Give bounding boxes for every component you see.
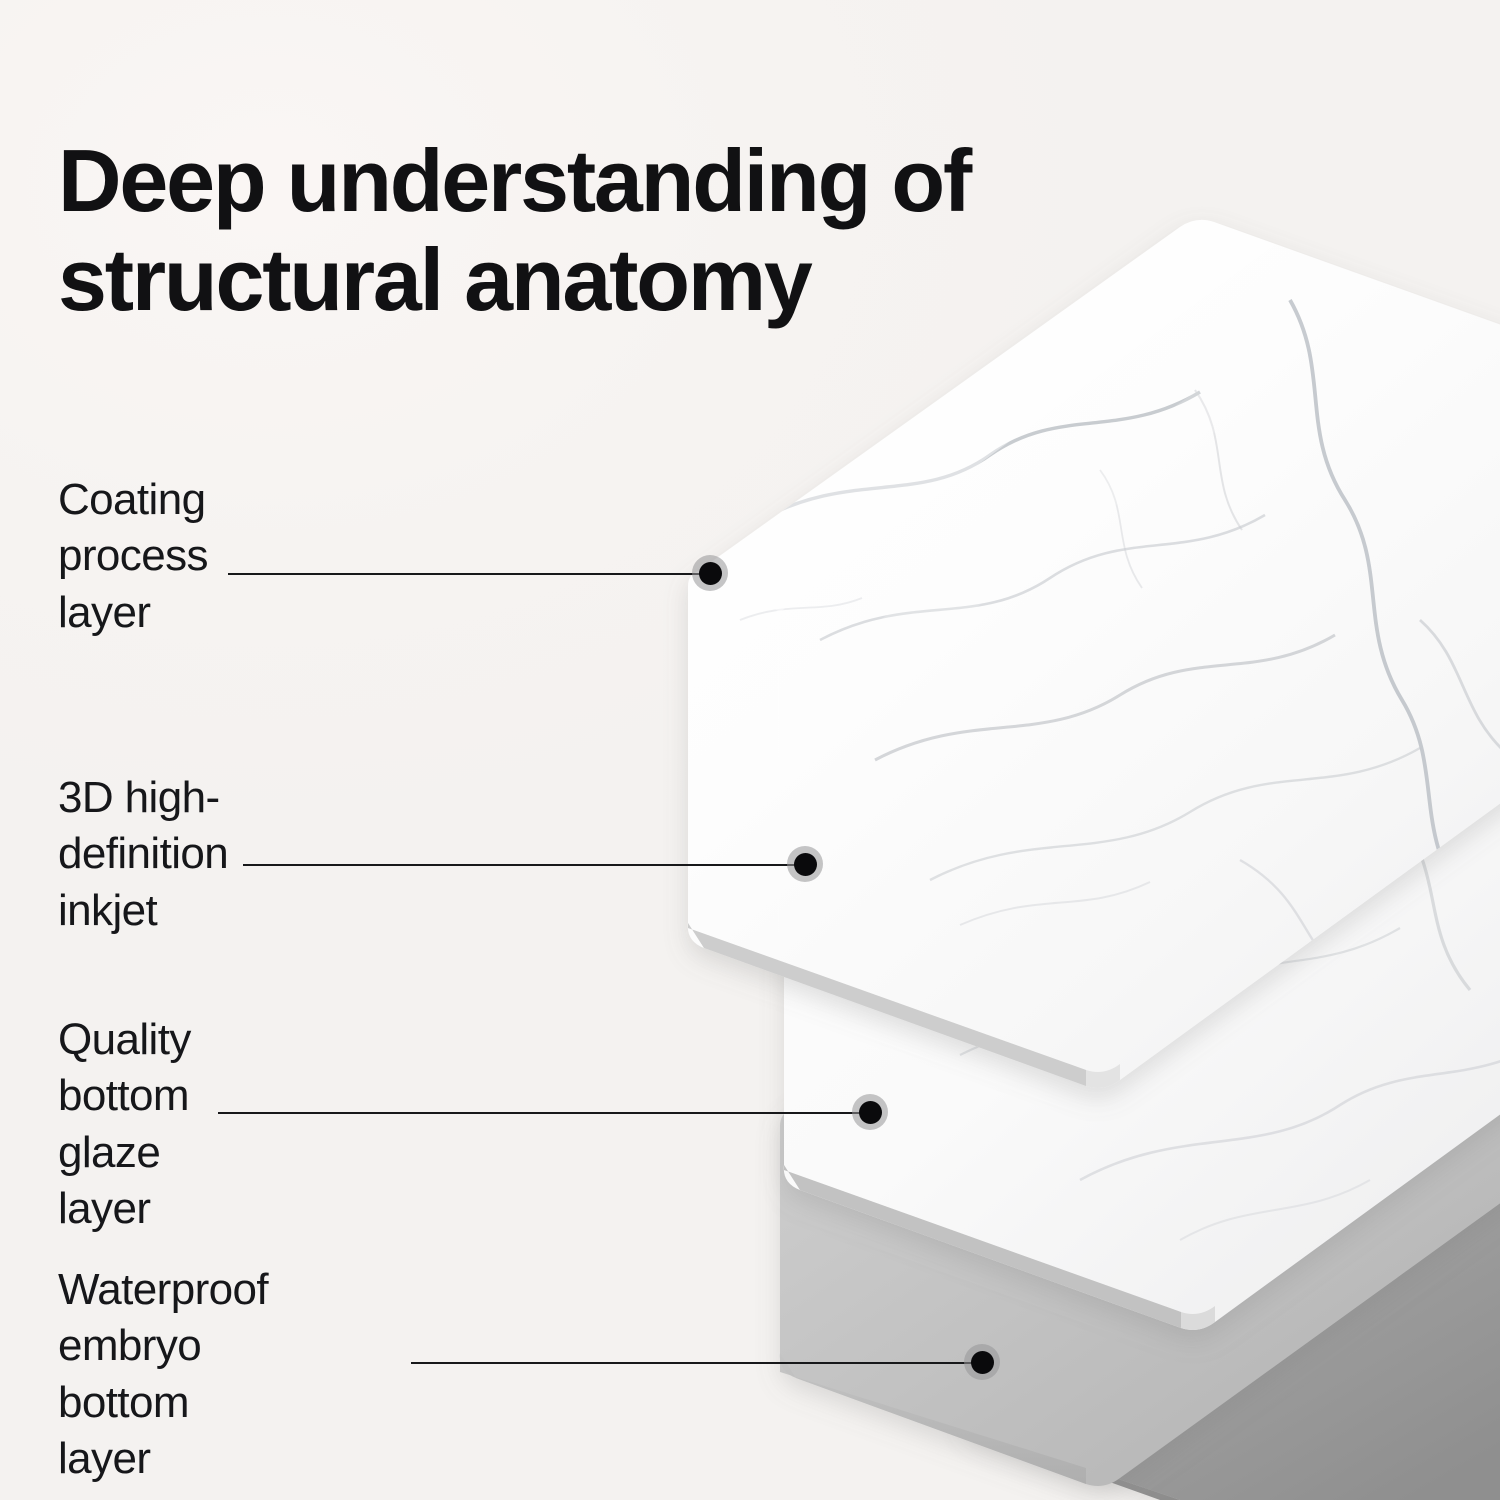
marker-dot-coating-process-layer[interactable]	[692, 555, 728, 591]
slab-bottom-glaze	[780, 780, 1500, 1486]
marble-veins-coating	[740, 300, 1500, 992]
slab-waterproof-embryo	[964, 940, 1500, 1500]
leader-line-3d-high-definition-inkjet	[243, 864, 799, 866]
marker-dot-quality-bottom-glaze-layer[interactable]	[852, 1094, 888, 1130]
marble-veins-inkjet	[860, 640, 1500, 1240]
marker-dot-waterproof-embryo-bottom-layer[interactable]	[964, 1344, 1000, 1380]
page-title: Deep understanding of structural anatomy	[58, 131, 1178, 330]
callout-label-coating-process-layer: Coating process layer	[58, 472, 208, 641]
slab-inkjet-pattern	[784, 513, 1500, 1330]
callout-label-waterproof-embryo-bottom-layer: Waterproof embryo bottom layer	[58, 1262, 268, 1487]
leader-line-coating-process-layer	[228, 573, 704, 575]
leader-line-quality-bottom-glaze-layer	[218, 1112, 864, 1114]
callout-label-quality-bottom-glaze-layer: Quality bottom glaze layer	[58, 1012, 191, 1237]
slab-coating-process	[688, 220, 1500, 1088]
marker-dot-3d-high-definition-inkjet[interactable]	[787, 846, 823, 882]
callout-label-3d-high-definition-inkjet: 3D high-definition inkjet	[58, 770, 228, 939]
infographic-canvas: Deep understanding of structural anatomy…	[0, 0, 1500, 1500]
leader-line-waterproof-embryo-bottom-layer	[411, 1362, 976, 1364]
